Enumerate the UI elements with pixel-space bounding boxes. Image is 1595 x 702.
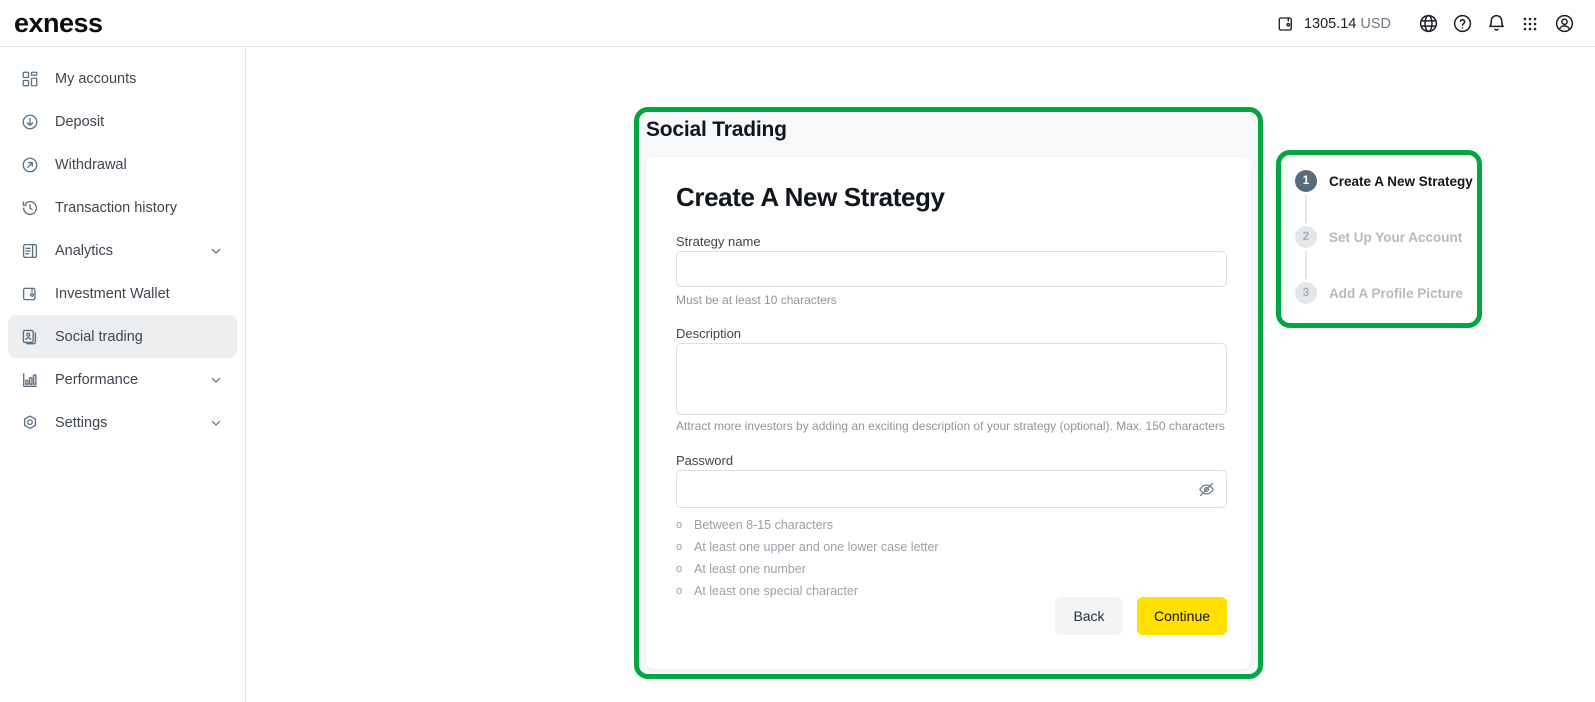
requirement-text: At least one number [694, 562, 806, 576]
sidebar-item-my-accounts[interactable]: My accounts [8, 57, 237, 100]
bullet-circle-icon: o [676, 586, 689, 597]
sidebar-item-label: Performance [55, 372, 138, 388]
form-title: Create A New Strategy [676, 182, 945, 213]
strategy-name-hint: Must be at least 10 characters [676, 293, 837, 307]
bar-chart-icon [20, 370, 40, 390]
requirement-item: o At least one number [676, 558, 939, 580]
bell-icon[interactable] [1479, 7, 1513, 41]
sidebar-item-settings[interactable]: Settings [8, 401, 237, 444]
description-hint: Attract more investors by adding an exci… [676, 419, 1225, 433]
step-number: 3 [1295, 282, 1317, 304]
chevron-down-icon[interactable] [209, 373, 223, 387]
stepper-step-3[interactable]: 3 Add A Profile Picture [1295, 279, 1463, 307]
back-button[interactable]: Back [1055, 597, 1123, 635]
sidebar-item-withdrawal[interactable]: Withdrawal [8, 143, 237, 186]
top-header: exness 1305.14 USD [0, 0, 1595, 47]
sidebar-item-label: Social trading [55, 329, 143, 345]
balance-display[interactable]: 1305.14 USD [1274, 10, 1393, 38]
sidebar-item-label: Analytics [55, 243, 113, 259]
exness-logo[interactable]: exness [14, 8, 103, 39]
requirement-text: Between 8-15 characters [694, 518, 833, 532]
sidebar-item-label: My accounts [55, 71, 136, 87]
chevron-down-icon[interactable] [209, 244, 223, 258]
social-card-icon [20, 327, 40, 347]
page-title: Social Trading [646, 118, 787, 142]
password-label: Password [676, 453, 733, 468]
stepper-step-2[interactable]: 2 Set Up Your Account [1295, 223, 1463, 251]
description-input-wrapper[interactable] [676, 343, 1227, 415]
step-number: 2 [1295, 226, 1317, 248]
step-label: Set Up Your Account [1329, 230, 1462, 245]
globe-icon[interactable] [1411, 7, 1445, 41]
description-textarea[interactable] [677, 344, 1226, 414]
requirement-item: o At least one special character [676, 580, 939, 602]
help-icon[interactable] [1445, 7, 1479, 41]
sidebar-item-label: Settings [55, 415, 107, 431]
eye-off-icon[interactable] [1196, 479, 1216, 499]
document-list-icon [20, 241, 40, 261]
sidebar-item-label: Withdrawal [55, 157, 127, 173]
sidebar-item-social-trading[interactable]: Social trading [8, 315, 237, 358]
apps-grid-icon[interactable] [1513, 7, 1547, 41]
sidebar-item-label: Deposit [55, 114, 104, 130]
description-label: Description [676, 326, 741, 341]
create-strategy-card: Create A New Strategy Strategy name Must… [646, 157, 1251, 669]
continue-button[interactable]: Continue [1137, 597, 1227, 635]
requirement-text: At least one special character [694, 584, 858, 598]
wallet-icon [20, 284, 40, 304]
sidebar-item-analytics[interactable]: Analytics [8, 229, 237, 272]
sidebar-item-deposit[interactable]: Deposit [8, 100, 237, 143]
password-requirements: o Between 8-15 characters o At least one… [676, 514, 939, 602]
sidebar-item-transaction-history[interactable]: Transaction history [8, 186, 237, 229]
step-connector [1305, 195, 1307, 223]
requirement-item: o At least one upper and one lower case … [676, 536, 939, 558]
strategy-name-label: Strategy name [676, 234, 761, 249]
wallet-icon [1276, 14, 1296, 34]
bullet-circle-icon: o [676, 564, 689, 575]
password-input[interactable] [677, 471, 1226, 507]
requirement-text: At least one upper and one lower case le… [694, 540, 939, 554]
form-actions: Back Continue [1055, 597, 1227, 635]
step-connector [1305, 251, 1307, 279]
arrow-down-circle-icon [20, 112, 40, 132]
bullet-circle-icon: o [676, 520, 689, 531]
arrow-up-right-circle-icon [20, 155, 40, 175]
bullet-circle-icon: o [676, 542, 689, 553]
sidebar-item-label: Transaction history [55, 200, 177, 216]
step-label: Create A New Strategy [1329, 174, 1473, 189]
strategy-name-input-wrapper[interactable] [676, 251, 1227, 287]
stepper-step-1[interactable]: 1 Create A New Strategy [1295, 167, 1463, 195]
step-number: 1 [1295, 170, 1317, 192]
sidebar-item-investment-wallet[interactable]: Investment Wallet [8, 272, 237, 315]
account-icon[interactable] [1547, 7, 1581, 41]
main-content: Social Trading Create A New Strategy Str… [246, 47, 1595, 702]
header-actions: 1305.14 USD [1274, 0, 1581, 47]
history-clock-icon [20, 198, 40, 218]
requirement-item: o Between 8-15 characters [676, 514, 939, 536]
step-label: Add A Profile Picture [1329, 286, 1463, 301]
sidebar-nav: My accounts Deposit Withdrawal Transacti… [0, 47, 246, 702]
balance-currency: USD [1360, 16, 1391, 32]
chevron-down-icon[interactable] [209, 416, 223, 430]
sidebar-item-performance[interactable]: Performance [8, 358, 237, 401]
onboarding-stepper: 1 Create A New Strategy 2 Set Up Your Ac… [1281, 155, 1477, 323]
strategy-name-input[interactable] [677, 252, 1226, 286]
password-input-wrapper[interactable] [676, 470, 1227, 508]
grid-squares-icon [20, 69, 40, 89]
gear-hex-icon [20, 413, 40, 433]
sidebar-item-label: Investment Wallet [55, 286, 170, 302]
balance-amount: 1305.14 [1304, 16, 1356, 32]
